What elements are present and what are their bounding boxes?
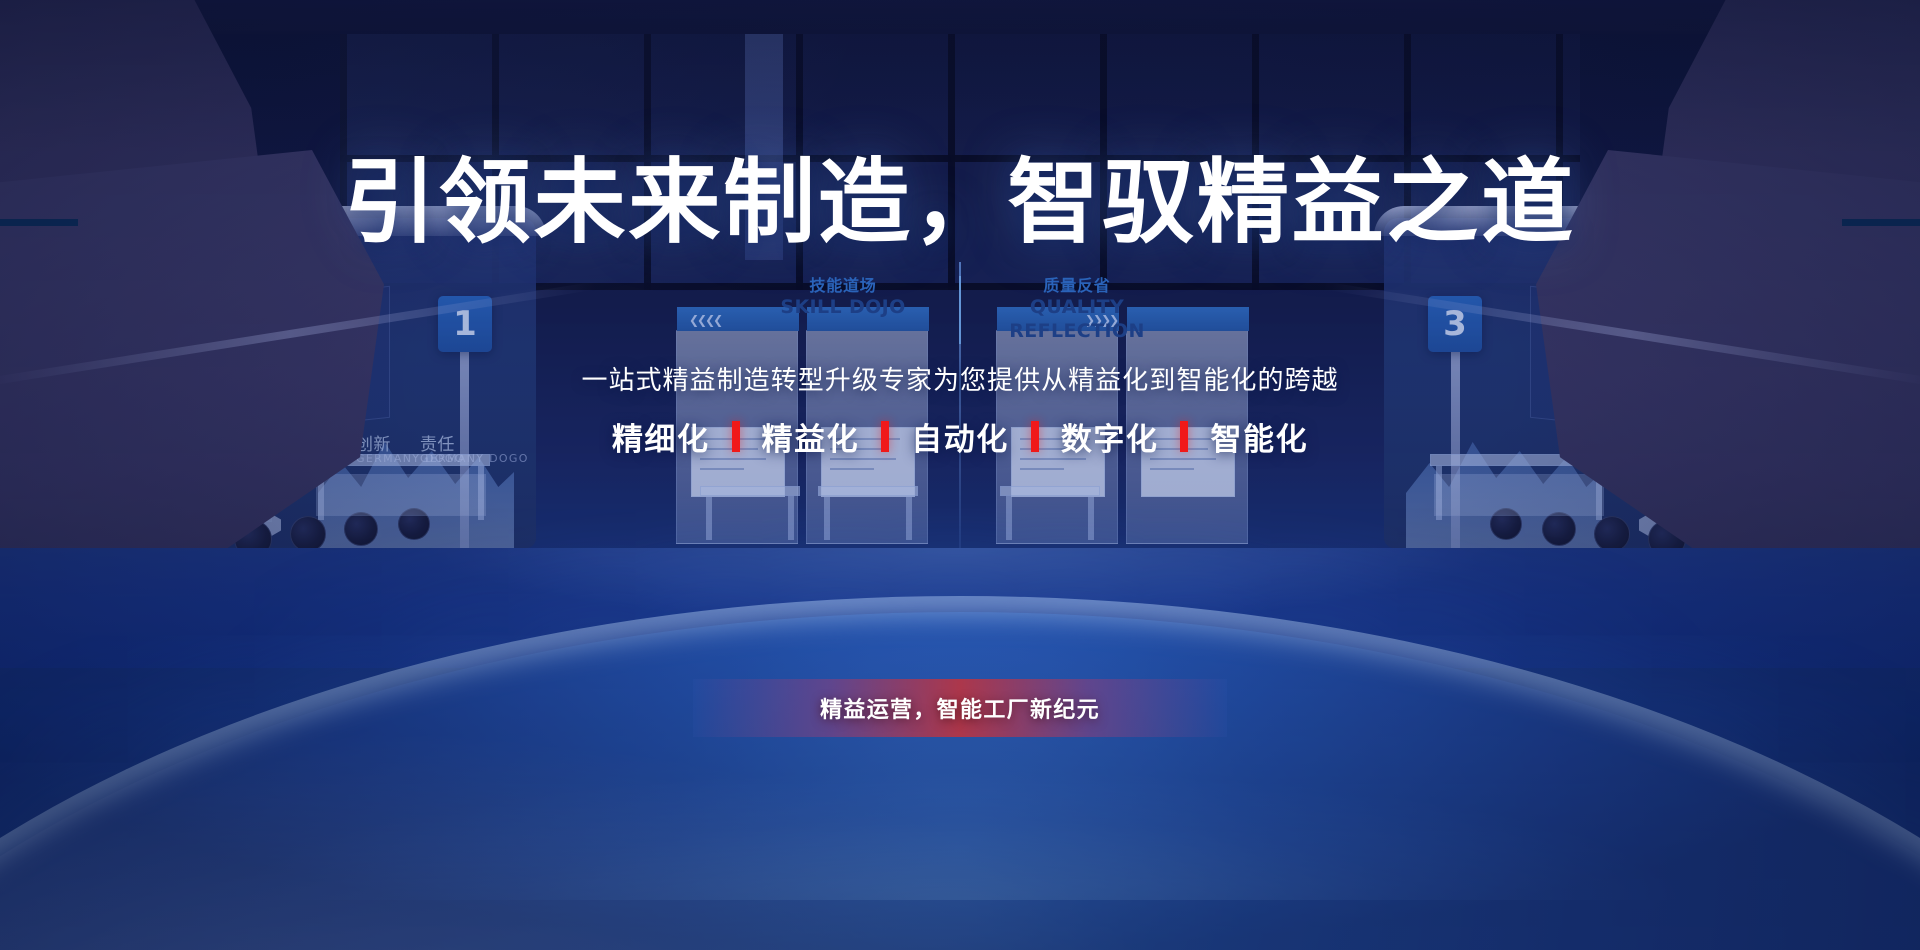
tagline-badge-label: 精益运营，智能工厂新纪元 <box>820 692 1100 724</box>
page-title: 引领未来制造，智驭精益之道 <box>0 128 1920 261</box>
signboard-label-cn: 技能道场 <box>727 276 959 296</box>
keyword-shuzihua: 数字化 <box>1061 414 1159 459</box>
hero-content: 引领未来制造，智驭精益之道 技能道场 SKILL DOJO 质量反省 QUALI… <box>0 0 1920 950</box>
page-subtitle: 一站式精益制造转型升级专家为您提供从精益化到智能化的跨越 <box>0 360 1920 397</box>
keyword-zidonghua: 自动化 <box>911 414 1009 459</box>
keyword-separator-bar <box>732 421 740 452</box>
keyword-jingxihua: 精细化 <box>612 414 710 459</box>
keyword-jingyihua: 精益化 <box>762 414 860 459</box>
signboard-quality-reflection: 质量反省 QUALITY REFLECTION <box>961 276 1193 344</box>
signboard-skill-dojo: 技能道场 SKILL DOJO <box>727 276 959 344</box>
keyword-separator-bar <box>1180 421 1188 452</box>
keyword-zhinenghua: 智能化 <box>1210 414 1308 459</box>
keyword-separator-bar <box>881 421 889 452</box>
tagline-badge: 精益运营，智能工厂新纪元 <box>693 679 1227 737</box>
signboard-label-cn: 质量反省 <box>961 276 1193 296</box>
signboard-group: 技能道场 SKILL DOJO 质量反省 QUALITY REFLECTION <box>0 276 1920 344</box>
signboard-label-en: SKILL DOJO <box>727 296 959 320</box>
hero-banner: ENTERPRISE COURSE BEFORE THE WORLD YOUR … <box>0 0 1920 950</box>
signboard-label-en: QUALITY REFLECTION <box>961 296 1193 344</box>
keyword-separator-bar <box>1031 421 1039 452</box>
keyword-row: 精细化 精益化 自动化 数字化 智能化 <box>0 414 1920 459</box>
